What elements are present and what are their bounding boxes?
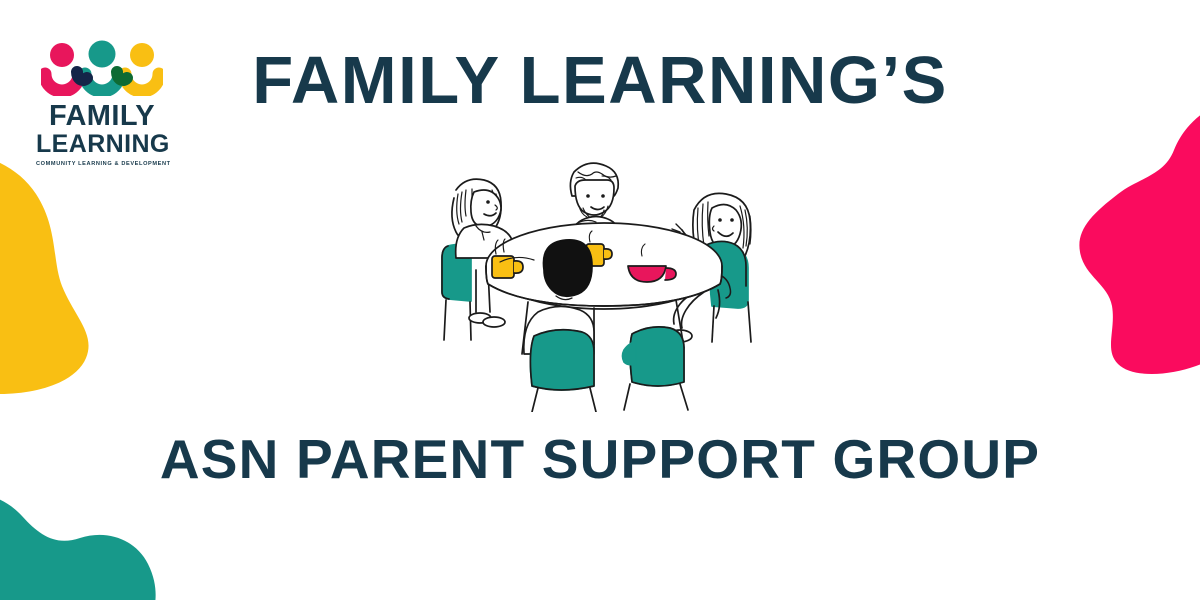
empty-teal-chair: [623, 327, 689, 410]
page-title-top: FAMILY LEARNING’S: [0, 42, 1200, 119]
blob-yellow-left: [0, 150, 126, 395]
logo-line-2: LEARNING: [36, 132, 168, 158]
page-title-bottom: ASN PARENT SUPPORT GROUP: [0, 427, 1200, 491]
logo-tagline: COMMUNITY LEARNING & DEVELOPMENT: [36, 161, 168, 167]
poster-canvas: FAMILY LEARNING COMMUNITY LEARNING & DEV…: [0, 0, 1200, 600]
people-around-table-illustration: [418, 150, 778, 412]
blob-pink-right: [1046, 98, 1200, 378]
blob-teal-bottom-left: [0, 480, 195, 600]
